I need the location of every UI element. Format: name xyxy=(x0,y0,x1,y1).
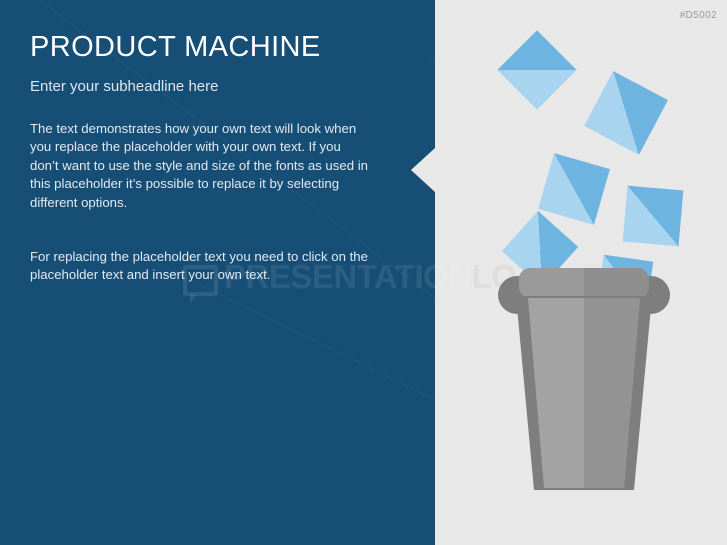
illustration-envelopes-trash xyxy=(435,0,727,545)
envelope-4 xyxy=(623,186,684,247)
envelope-3 xyxy=(538,153,610,225)
envelope-1 xyxy=(497,30,576,109)
envelope-flap xyxy=(623,186,684,247)
page-title: PRODUCT MACHINE xyxy=(30,31,321,64)
envelope-flap xyxy=(497,30,576,109)
envelope-flap xyxy=(538,153,610,225)
trash-can-lid-shade xyxy=(584,268,649,298)
envelope-2 xyxy=(584,71,668,155)
trash-can xyxy=(498,268,670,490)
body-paragraph-2: For replacing the placeholder text you n… xyxy=(30,248,370,285)
envelope-flap xyxy=(584,71,668,155)
body-paragraph-1: The text demonstrates how your own text … xyxy=(30,120,370,212)
slide-canvas: #D5002 PRODUCT MACHINE Enter your subhea… xyxy=(0,0,727,545)
subheadline: Enter your subheadline here xyxy=(30,78,218,95)
